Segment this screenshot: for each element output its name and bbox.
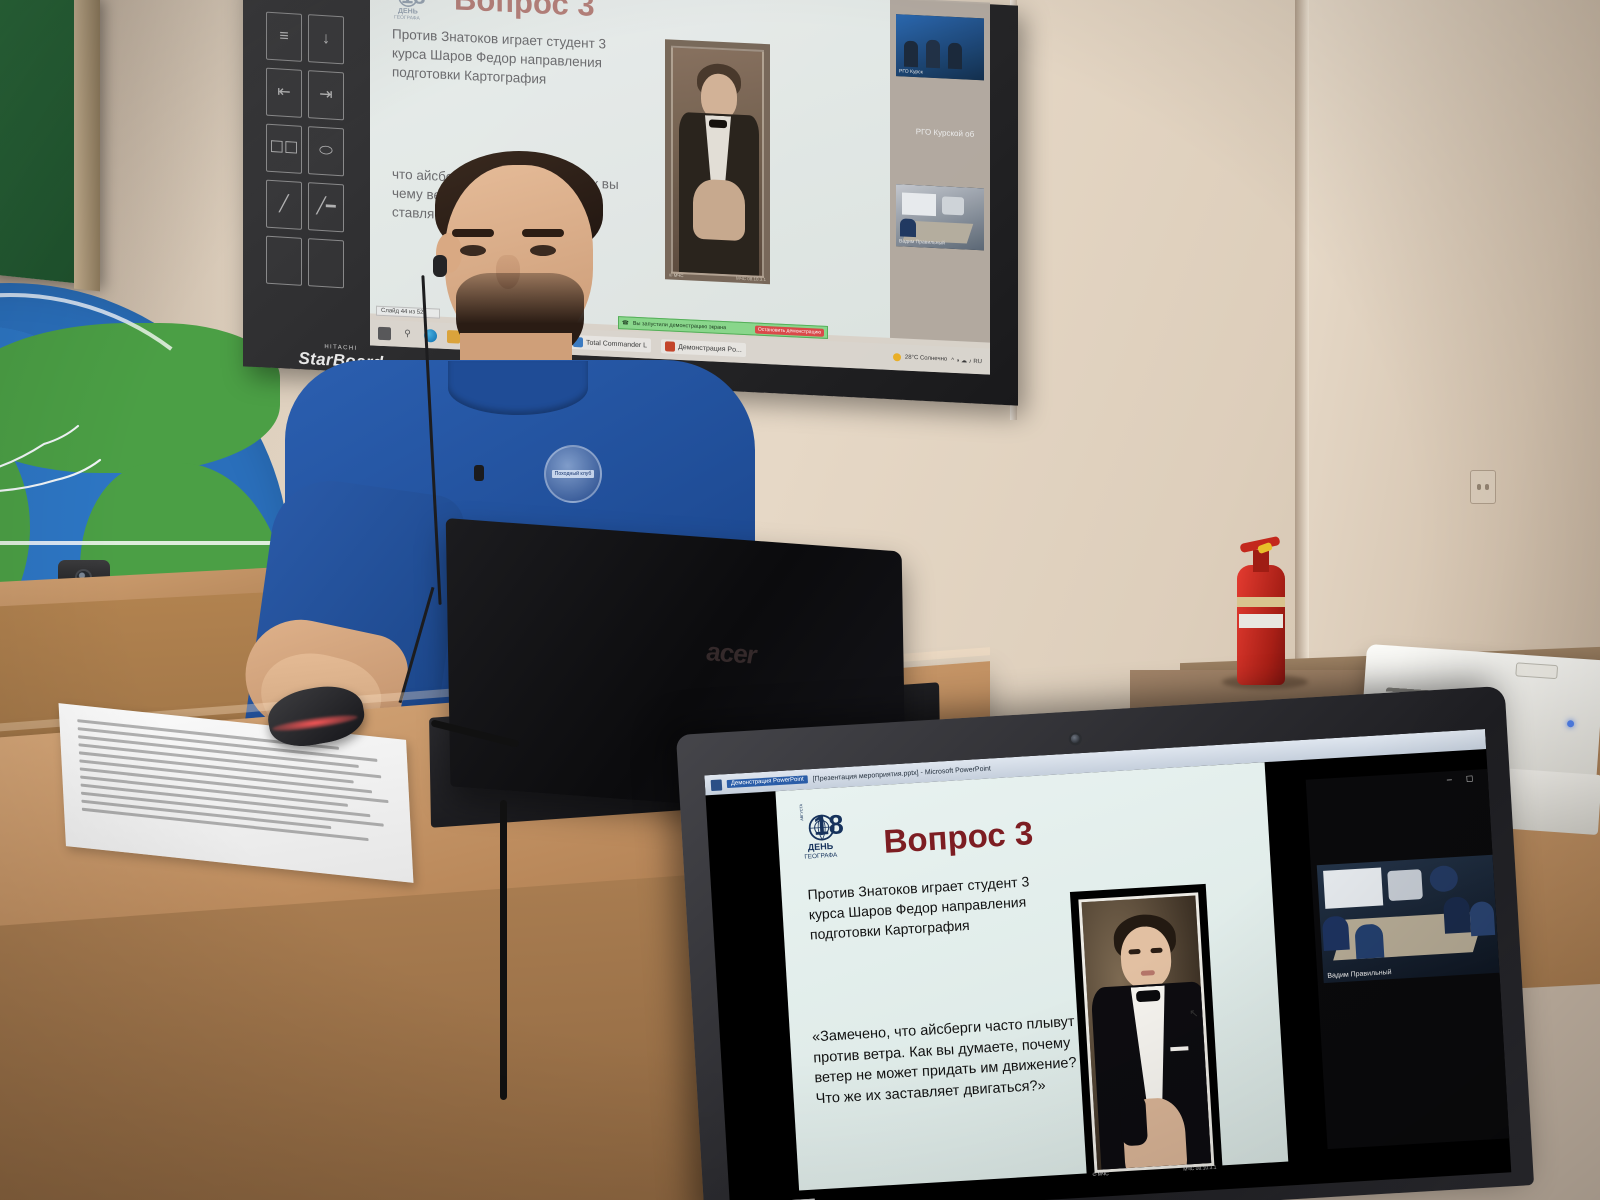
- participant-tile[interactable]: РГО Курск: [896, 14, 984, 80]
- tshirt-badge-label: Походный клуб: [552, 470, 595, 478]
- clip-microphone: [474, 465, 484, 481]
- presenter-brow-right: [522, 229, 564, 237]
- participant-tile[interactable]: Вадим Правильный: [1317, 855, 1504, 983]
- participant-name: РГО Курск: [899, 68, 923, 75]
- weather-label: 28°C Солнечно: [905, 355, 947, 363]
- powerpoint-slide[interactable]: АВГУСТА 18 ДЕНЬ ГЕОГРАФА Вопрос 3 Против…: [775, 762, 1288, 1190]
- svg-text:АВГУСТА: АВГУСТА: [799, 803, 804, 821]
- app-chip-label: Демонстрация PowerPoint: [727, 775, 808, 788]
- svg-text:ГЕОГРАФА: ГЕОГРАФА: [804, 852, 838, 861]
- mouse-cursor-icon: ↖: [1189, 1007, 1197, 1018]
- minimize-icon[interactable]: –: [1447, 774, 1453, 785]
- slide-photo: © МЧС МЧС 08.10.3.1: [1070, 884, 1223, 1182]
- laptop-screen[interactable]: Демонстрация PowerPoint [Презентация мер…: [704, 729, 1511, 1200]
- earphone-icon: [433, 255, 447, 277]
- projector-led: [1567, 720, 1574, 727]
- foreground-laptop[interactable]: Демонстрация PowerPoint [Презентация мер…: [676, 686, 1534, 1200]
- power-outlet: [1470, 470, 1496, 504]
- photo-watermark-right: МЧС 08.10.3.1: [1183, 1165, 1217, 1173]
- page-prev-button[interactable]: ⇤: [266, 68, 302, 118]
- powerpoint-icon: [711, 779, 723, 791]
- video-conference-panel[interactable]: – ◻ ✕ Вадим Правильный: [1306, 768, 1512, 1149]
- slide-body-1: Против Знатоков играет студент 3 курса Ш…: [807, 871, 1060, 945]
- slide-title: Вопрос 3: [454, 0, 595, 24]
- classroom-scene: АВГУСТА 18 ДЕНЬ ГЕОГРАФА Вопрос 3 Против…: [0, 0, 1600, 1200]
- participant-tile[interactable]: Вадим Правильный: [896, 184, 984, 250]
- page-next-button[interactable]: ⇥: [308, 70, 344, 120]
- weather-icon: [893, 353, 901, 361]
- menu-button[interactable]: ≡: [266, 12, 302, 62]
- slide-body-2: «Замечено, что айсберги часто плывут про…: [811, 1012, 1085, 1110]
- wall-corner: [1295, 0, 1309, 700]
- acer-cable: [500, 800, 507, 1100]
- slide-title: Вопрос 3: [882, 814, 1034, 861]
- photo-watermark-left: © МЧС: [1093, 1171, 1109, 1178]
- tshirt-badge: Походный клуб: [544, 445, 602, 503]
- extinguisher-label: [1239, 614, 1283, 628]
- extinguisher-band: [1237, 597, 1285, 607]
- svg-text:ДЕНЬ: ДЕНЬ: [808, 841, 834, 853]
- geography-day-logo-icon: АВГУСТА 18 ДЕНЬ ГЕОГРАФА: [794, 801, 855, 862]
- maximize-icon[interactable]: ◻: [1466, 773, 1474, 784]
- svg-text:18: 18: [813, 809, 845, 841]
- geography-day-logo-icon: АВГУСТА 18 ДЕНЬ ГЕОГРАФА: [388, 0, 434, 22]
- projected-video-panel[interactable]: – □ ✕ РГО Курск РГО Курской об Вадим Пра…: [890, 0, 990, 343]
- projector-focus-knob[interactable]: [1515, 662, 1558, 679]
- wall-right-panel: [1309, 0, 1600, 700]
- presenter-collar: [448, 361, 588, 415]
- video-center-label: РГО Курской об: [898, 126, 990, 139]
- participant-name: Вадим Правильный: [1327, 969, 1392, 980]
- presenter-brow-left: [452, 229, 494, 237]
- system-tray[interactable]: 28°C Солнечно ^ ◑ ☁ ♪ RU: [893, 353, 982, 365]
- tray-icons[interactable]: ^ ◑ ☁ ♪ RU: [951, 356, 982, 364]
- slide-body-1: Против Знатоков играет студент 3 курса Ш…: [392, 24, 642, 93]
- svg-text:ГЕОГРАФА: ГЕОГРАФА: [394, 15, 420, 22]
- presenter-eye-left: [460, 245, 486, 256]
- chalkboard-frame: [74, 0, 100, 291]
- presenter-eye-right: [530, 245, 556, 256]
- down-button[interactable]: ↓: [308, 14, 344, 64]
